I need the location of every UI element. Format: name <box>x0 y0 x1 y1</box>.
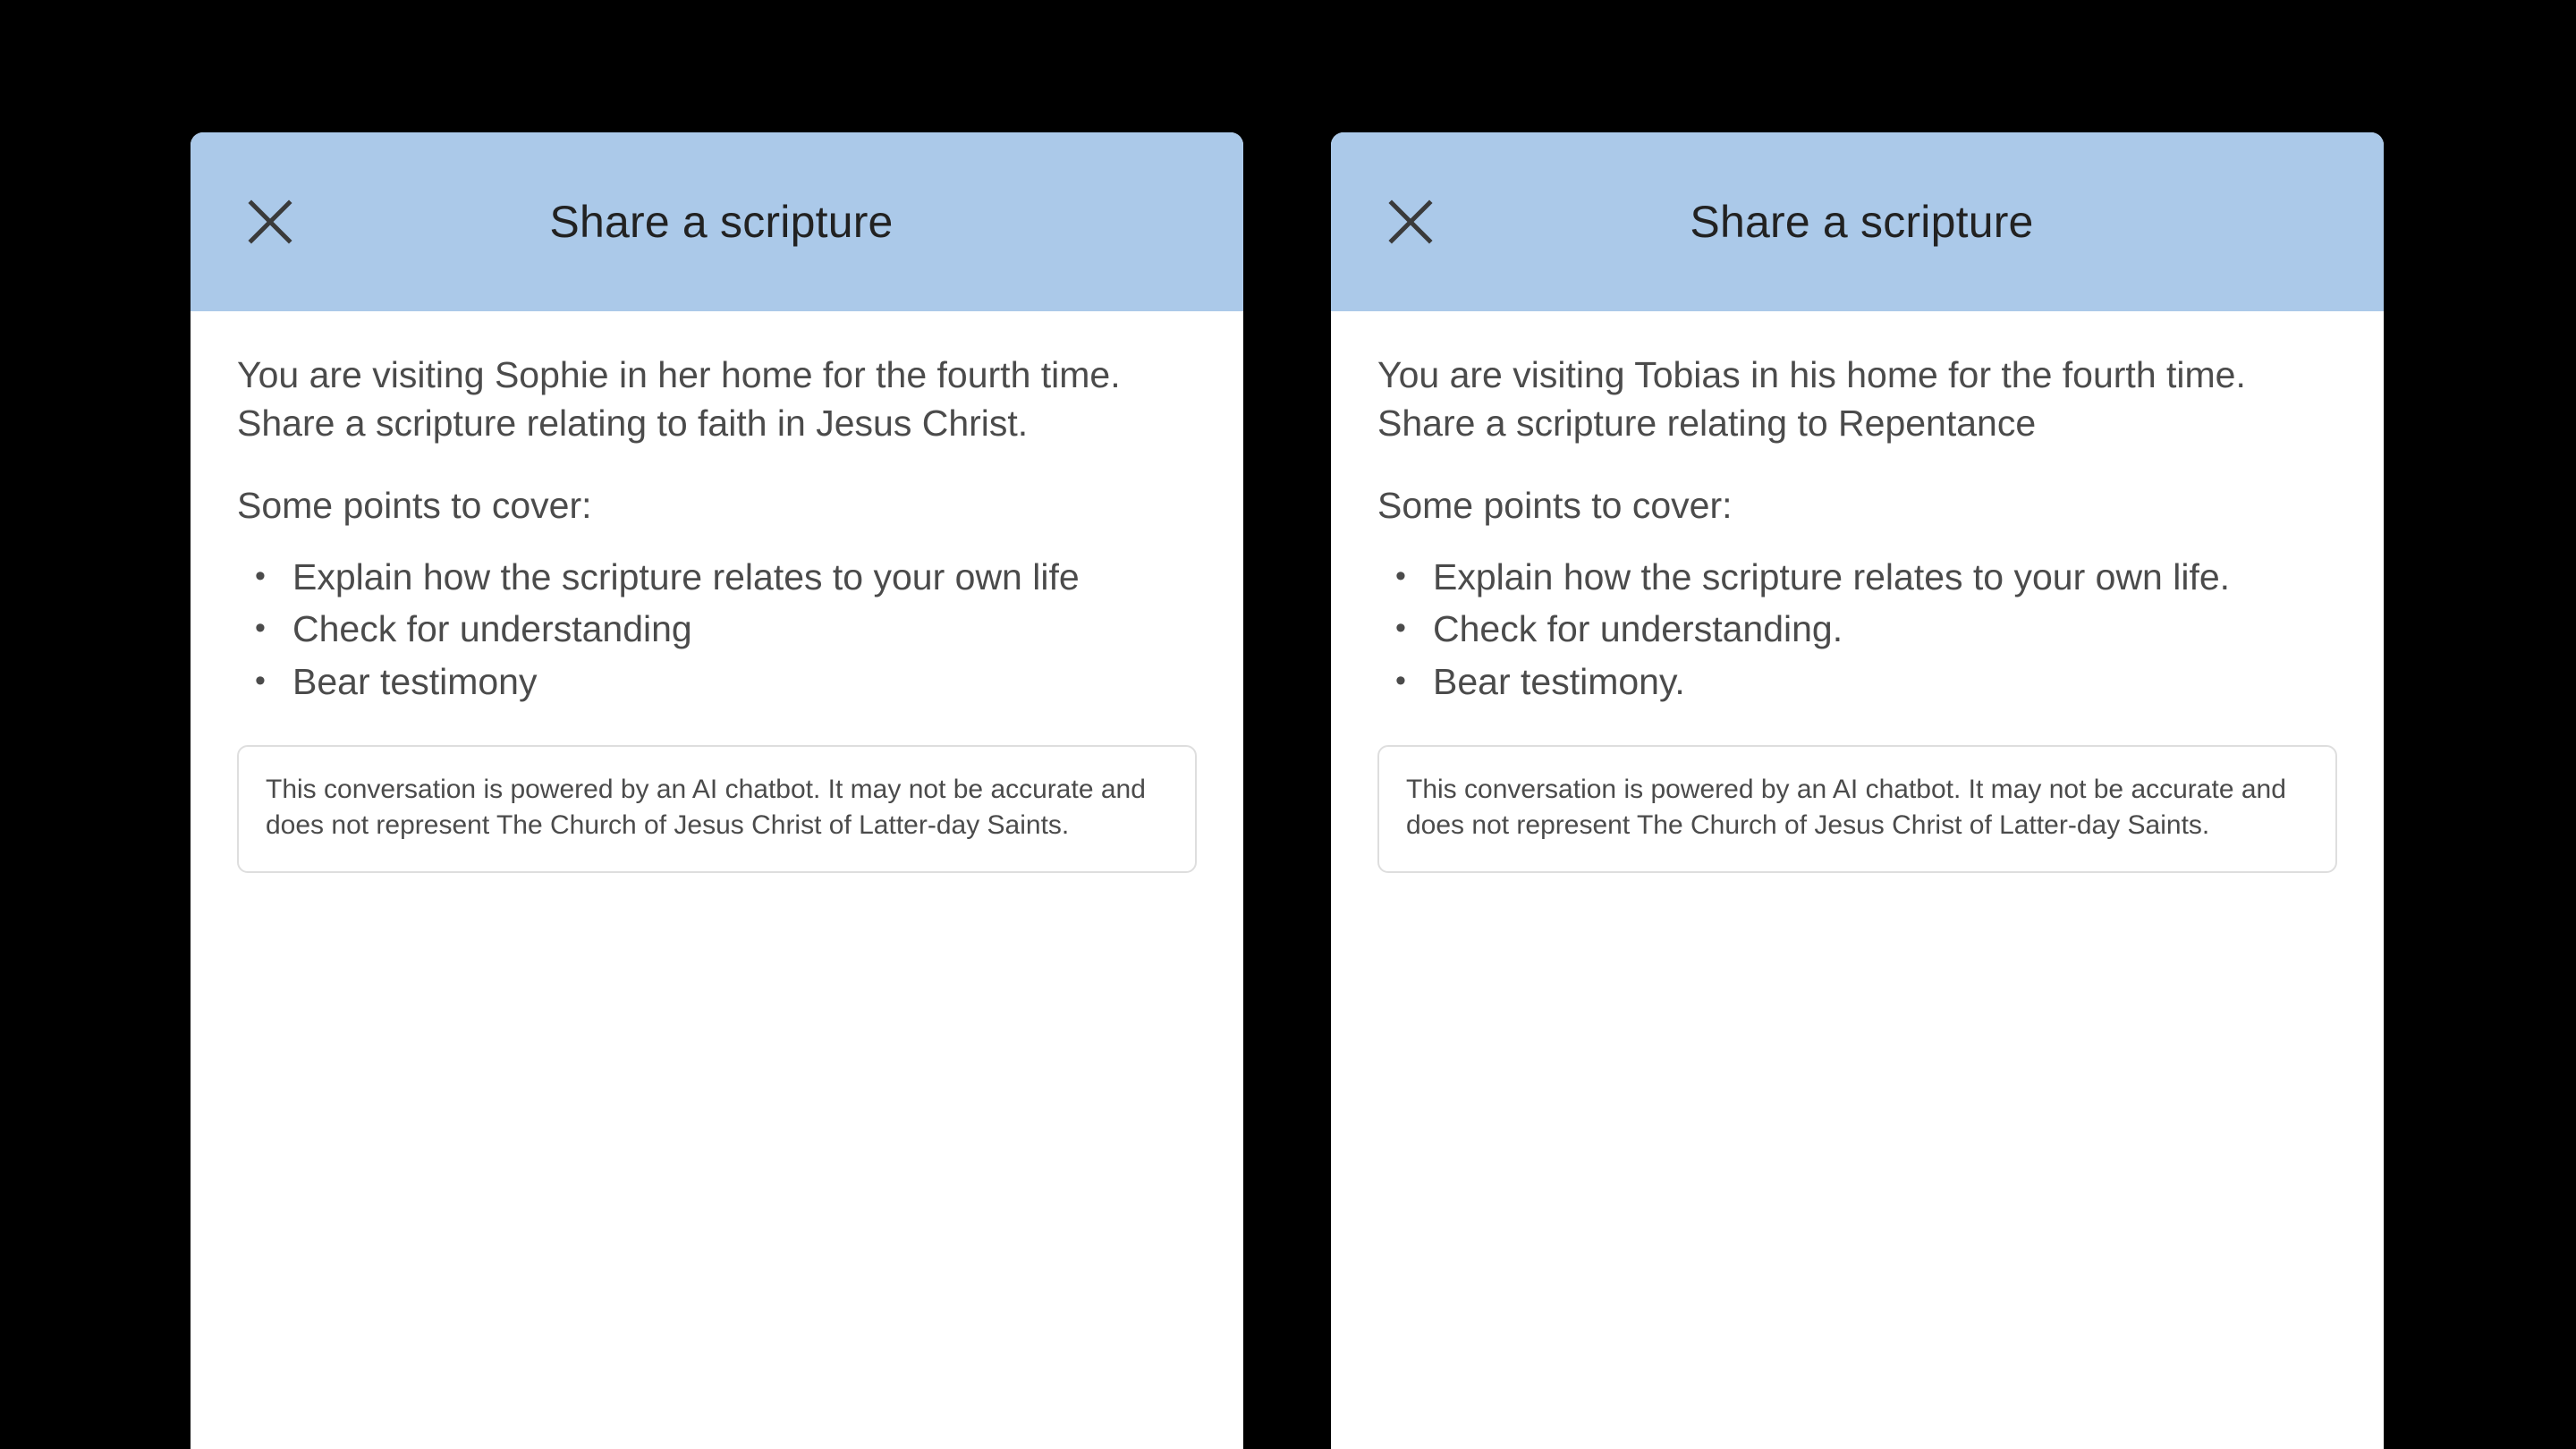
close-icon <box>246 198 294 246</box>
page-title: Share a scripture <box>1331 199 2384 244</box>
ai-disclaimer: This conversation is powered by an AI ch… <box>237 745 1197 874</box>
points-label: Some points to cover: <box>1377 481 2337 530</box>
page-title: Share a scripture <box>191 199 1243 244</box>
points-list: Explain how the scripture relates to you… <box>237 553 1197 705</box>
list-item: Check for understanding. <box>1394 605 2337 653</box>
close-icon <box>1386 198 1435 246</box>
ai-disclaimer: This conversation is powered by an AI ch… <box>1377 745 2337 874</box>
dialog-body: You are visiting Sophie in her home for … <box>191 311 1243 1449</box>
dialog-header: Share a scripture <box>191 132 1243 311</box>
screenshot-stage: Share a scripture You are visiting Sophi… <box>0 0 2576 1449</box>
points-list: Explain how the scripture relates to you… <box>1377 553 2337 705</box>
points-label: Some points to cover: <box>237 481 1197 530</box>
list-item: Check for understanding <box>253 605 1197 653</box>
dialog-header: Share a scripture <box>1331 132 2384 311</box>
list-item: Bear testimony <box>253 657 1197 706</box>
list-item: Explain how the scripture relates to you… <box>253 553 1197 601</box>
list-item: Explain how the scripture relates to you… <box>1394 553 2337 601</box>
list-item: Bear testimony. <box>1394 657 2337 706</box>
dialog-panel-left: Share a scripture You are visiting Sophi… <box>191 132 1243 1449</box>
dialog-panel-right: Share a scripture You are visiting Tobia… <box>1331 132 2384 1449</box>
dialog-body: You are visiting Tobias in his home for … <box>1331 311 2384 1449</box>
intro-text: You are visiting Tobias in his home for … <box>1377 351 2272 447</box>
intro-text: You are visiting Sophie in her home for … <box>237 351 1131 447</box>
close-button[interactable] <box>1372 183 1449 260</box>
close-button[interactable] <box>232 183 309 260</box>
